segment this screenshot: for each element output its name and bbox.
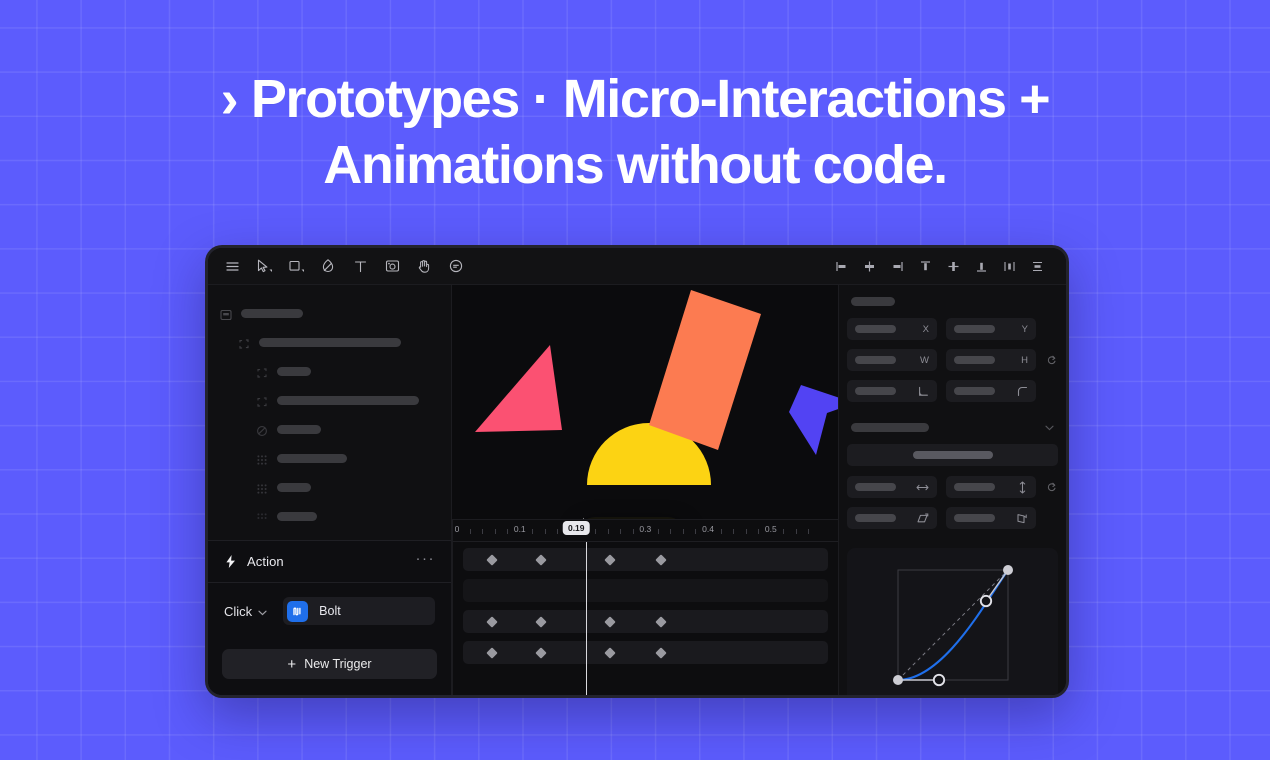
section-title-placeholder [851, 423, 929, 432]
canvas-artwork [452, 285, 838, 519]
align-right-icon[interactable] [884, 254, 910, 280]
ruler-tick [633, 529, 634, 534]
keyframe-diamond[interactable] [605, 647, 616, 658]
easing-section [839, 548, 1066, 695]
width-field[interactable]: W [847, 349, 937, 371]
ruler-tick [595, 529, 596, 534]
keyframe-track[interactable] [463, 641, 828, 664]
action-panel-header: Action ··· [208, 541, 451, 583]
skew-y-field[interactable] [946, 507, 1036, 529]
design-canvas[interactable]: New Action [452, 285, 838, 519]
skew-y-icon [1016, 513, 1028, 524]
list-item[interactable] [220, 386, 439, 415]
rotation-field[interactable] [847, 380, 937, 402]
align-top-icon[interactable] [912, 254, 938, 280]
ruler-tick [495, 529, 496, 534]
image-tool-icon[interactable] [376, 252, 408, 280]
ruler-tick [658, 529, 659, 534]
keyframe-diamond[interactable] [535, 647, 546, 658]
new-trigger-button[interactable]: + New Trigger [222, 649, 437, 679]
action-trigger-row: Click Bolt [208, 583, 451, 639]
lock-aspect-ratio-icon[interactable] [1045, 355, 1058, 366]
ruler-label: 0.1 [514, 524, 526, 534]
bolt-action-chip[interactable]: Bolt [283, 597, 435, 625]
layers-panel [208, 285, 451, 540]
rotation-radius-row [847, 380, 1058, 402]
ellipse-icon [256, 424, 268, 436]
tool-group [208, 252, 472, 280]
ruler-tick [758, 529, 759, 534]
action-panel: Action ··· Click [208, 540, 451, 695]
ruler-tick [557, 529, 558, 534]
ruler-tick [746, 529, 747, 534]
triangle-shape [475, 345, 562, 432]
keyframe-diamond[interactable] [605, 554, 616, 565]
distribute-horizontal-icon[interactable] [996, 254, 1022, 280]
height-field[interactable]: H [946, 349, 1036, 371]
keyframe-diamond[interactable] [605, 616, 616, 627]
curve-point-start [893, 675, 903, 685]
text-tool-icon[interactable] [344, 252, 376, 280]
align-center-horizontal-icon[interactable] [856, 254, 882, 280]
keyframe-diamond[interactable] [487, 647, 498, 658]
menu-icon[interactable] [216, 252, 248, 280]
align-tool-group [828, 248, 1050, 285]
keyframe-diamond[interactable] [535, 554, 546, 565]
playhead-badge[interactable]: 0.19 [563, 521, 590, 535]
ruler-tick [796, 529, 797, 534]
component-icon [256, 511, 268, 523]
scale-row [847, 476, 1058, 498]
timeline-ruler[interactable]: 00.10.30.40.50.19 [453, 520, 838, 542]
chevron-down-icon [258, 604, 267, 619]
layer-name-placeholder [241, 309, 303, 318]
keyframe-diamond[interactable] [656, 647, 667, 658]
headline-line-2: Animations without code. [323, 135, 946, 195]
center-column: New Action 00.10.30.40.50.19 [452, 285, 838, 695]
h-resize-field[interactable] [847, 476, 937, 498]
align-bottom-icon[interactable] [968, 254, 994, 280]
ruler-tick [721, 529, 722, 534]
properties-panel: X Y W H [839, 285, 1066, 538]
distribute-vertical-icon[interactable] [1024, 254, 1050, 280]
align-left-icon[interactable] [828, 254, 854, 280]
list-item[interactable] [220, 473, 439, 502]
bolt-chip-label: Bolt [319, 604, 341, 618]
size-row: W H [847, 349, 1058, 371]
ruler-label: 0 [455, 524, 460, 534]
ruler-label: 0.5 [765, 524, 777, 534]
keyframe-tracks [463, 542, 828, 664]
timeline-panel: 00.10.30.40.50.19 [452, 519, 838, 695]
v-resize-field[interactable] [946, 476, 1036, 498]
lightning-bolt-icon [224, 554, 237, 569]
x-label: X [923, 324, 929, 335]
layer-name-placeholder [277, 512, 317, 521]
ruler-tick [507, 529, 508, 534]
h-label: H [1021, 355, 1028, 366]
action-more-button[interactable]: ··· [416, 555, 436, 568]
ruler-tick [545, 529, 546, 534]
bezier-curve-editor[interactable] [847, 548, 1058, 695]
x-field[interactable]: X [847, 318, 937, 340]
list-item[interactable] [220, 328, 439, 357]
keyframe-track[interactable] [463, 610, 828, 633]
horizontal-resize-icon [916, 482, 929, 493]
layer-name-placeholder [259, 338, 401, 347]
keyframe-diamond[interactable] [487, 554, 498, 565]
ruler-label: 0.3 [639, 524, 651, 534]
corner-radius-icon [1017, 386, 1028, 397]
plus-icon: + [287, 657, 296, 672]
keyframe-diamond[interactable] [656, 554, 667, 565]
comment-tool-icon[interactable] [440, 252, 472, 280]
layer-name-placeholder [277, 454, 347, 463]
transform-section-header[interactable] [851, 418, 1054, 436]
ruler-tick [683, 529, 684, 534]
keyframe-diamond[interactable] [487, 616, 498, 627]
frame-icon [220, 308, 232, 320]
ruler-tick [470, 529, 471, 534]
curve-linear-guide [898, 570, 1008, 680]
skew-x-field[interactable] [847, 507, 937, 529]
playhead-line [586, 542, 587, 695]
group-icon [256, 395, 268, 407]
rectangle-tool-icon[interactable] [280, 252, 312, 280]
transform-wide-field[interactable] [847, 444, 1058, 466]
ruler-label: 0.4 [702, 524, 714, 534]
ruler-tick [733, 529, 734, 534]
rotation-icon [918, 386, 929, 397]
ruler-tick [695, 529, 696, 534]
component-icon [256, 453, 268, 465]
corner-radius-field[interactable] [946, 380, 1036, 402]
layer-name-placeholder [277, 425, 321, 434]
layer-name-placeholder [277, 396, 419, 405]
rectangle-shape [649, 290, 761, 450]
skew-x-icon [917, 513, 929, 524]
list-item[interactable] [220, 415, 439, 444]
headline-chevron: › [221, 69, 238, 129]
new-trigger-label: New Trigger [304, 657, 371, 671]
keyframe-diamond[interactable] [656, 616, 667, 627]
ruler-tick [783, 529, 784, 534]
cursor-tool-icon[interactable] [248, 252, 280, 280]
y-field[interactable]: Y [946, 318, 1036, 340]
chevron-down-icon[interactable] [1045, 418, 1054, 436]
page-title: › Prototypes · Micro-Interactions + Anim… [0, 66, 1270, 198]
ruler-tick [620, 529, 621, 534]
toolbar [208, 248, 1066, 285]
section-title-placeholder [851, 297, 895, 306]
group-icon [238, 337, 250, 349]
ruler-tick [670, 529, 671, 534]
list-item[interactable] [220, 357, 439, 386]
y-label: Y [1022, 324, 1028, 335]
lock-scale-icon[interactable] [1045, 482, 1058, 493]
headline-line-1: Prototypes · Micro-Interactions + [237, 69, 1049, 129]
keyframe-track-empty[interactable] [463, 579, 828, 602]
vertical-resize-icon [1017, 481, 1028, 494]
pen-tool-icon[interactable] [312, 252, 344, 280]
keyframe-diamond[interactable] [535, 616, 546, 627]
arrow-shape [789, 385, 838, 455]
ruler-tick [608, 529, 609, 534]
list-item[interactable] [220, 299, 439, 328]
app-window: Action ··· Click [205, 245, 1069, 698]
component-icon [256, 482, 268, 494]
group-icon [256, 366, 268, 378]
left-sidebar: Action ··· Click [208, 285, 452, 695]
position-row: X Y [847, 318, 1058, 340]
keyframe-track[interactable] [463, 548, 828, 571]
bolt-logo-icon [287, 601, 308, 622]
trigger-type-label: Click [224, 604, 252, 619]
align-middle-icon[interactable] [940, 254, 966, 280]
ruler-tick [808, 529, 809, 534]
trigger-type-dropdown[interactable]: Click [224, 604, 267, 619]
hand-tool-icon[interactable] [408, 252, 440, 280]
ruler-tick [532, 529, 533, 534]
curve-point-end [1003, 565, 1013, 575]
right-sidebar: X Y W H [838, 285, 1066, 695]
w-label: W [920, 355, 929, 366]
curve-handle-end [980, 596, 990, 606]
layer-name-placeholder [277, 367, 311, 376]
skew-row [847, 507, 1058, 529]
list-item[interactable] [220, 502, 439, 531]
ruler-tick [482, 529, 483, 534]
layer-name-placeholder [277, 483, 311, 492]
action-panel-title: Action [247, 554, 284, 569]
curve-handle-start [933, 675, 943, 685]
list-item[interactable] [220, 444, 439, 473]
